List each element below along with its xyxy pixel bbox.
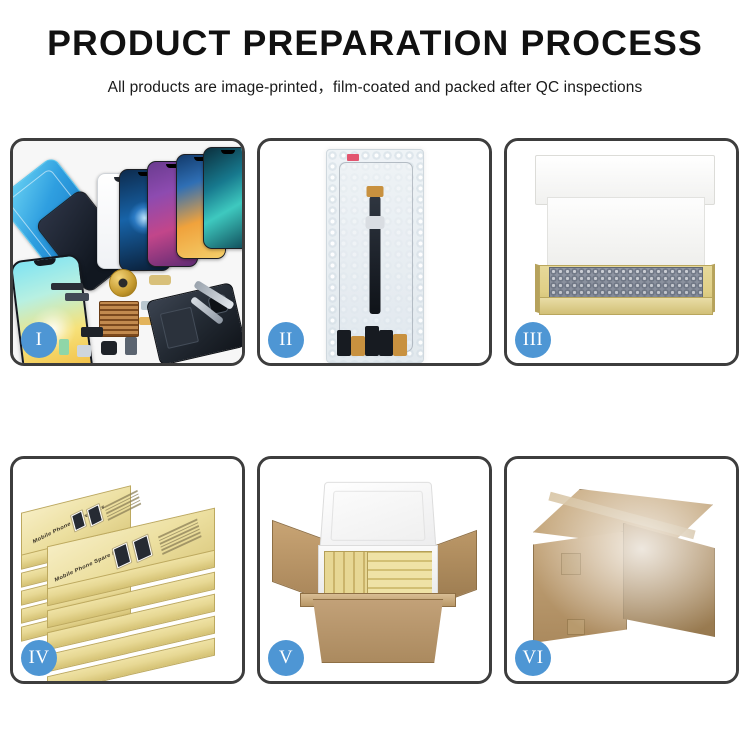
qc-sticker-icon [347,154,359,161]
step-panel-3[interactable]: III [504,138,739,366]
foam-box-lid-icon [319,482,436,551]
inner-retail-boxes-icon [324,551,432,597]
sim-tray-icon [77,345,91,357]
speaker-coil-icon [109,269,137,297]
step-badge-3: III [515,322,551,358]
page-title: PRODUCT PREPARATION PROCESS [0,26,750,61]
carton-label-tab-top [561,553,581,575]
box-stack: Mobile Phone Spare Parts Mobile [19,477,241,673]
metal-bracket-icon [65,293,89,301]
camera-module-icon [101,341,117,355]
step-badge-1: I [21,322,57,358]
product-preparation-page: PRODUCT PREPARATION PROCESS All products… [0,0,750,750]
vibrator-motor-icon [125,337,137,355]
process-steps-grid: I II [10,138,740,684]
step-panel-1[interactable]: I [10,138,245,366]
step-panel-5[interactable]: V [257,456,492,684]
step-badge-6: VI [515,640,551,676]
step-badge-2: II [268,322,304,358]
bubble-wrap-bag-icon [326,149,424,363]
step-panel-6[interactable]: VI [504,456,739,684]
bubble-wrap-fill-icon [549,267,703,301]
gold-flex-part-icon [149,275,171,285]
chip-grid-icon [99,301,139,337]
black-module-icon [81,327,103,337]
carton-front-icon [304,599,452,663]
flex-cable-icon [369,196,380,314]
step-badge-4: IV [21,640,57,676]
kraft-tray-front [539,297,713,315]
small-battery-icon [59,339,69,355]
carton-label-tab-bottom [567,619,585,635]
earpiece-part-icon [51,283,83,290]
carton-flap-left [272,520,322,600]
phone-chassis-icon [146,282,242,363]
step-badge-5: V [268,640,304,676]
carton-side-face [623,523,715,637]
step-panel-2[interactable]: II [257,138,492,366]
foam-sheet-icon [547,197,705,275]
page-subtitle: All products are image-printed，film-coat… [0,75,750,97]
phone-teal-wallpaper-icon [203,147,242,249]
step-panel-4[interactable]: Mobile Phone Spare Parts Mobile [10,456,245,684]
page-header: PRODUCT PREPARATION PROCESS All products… [0,0,750,97]
connector-row [335,322,415,356]
